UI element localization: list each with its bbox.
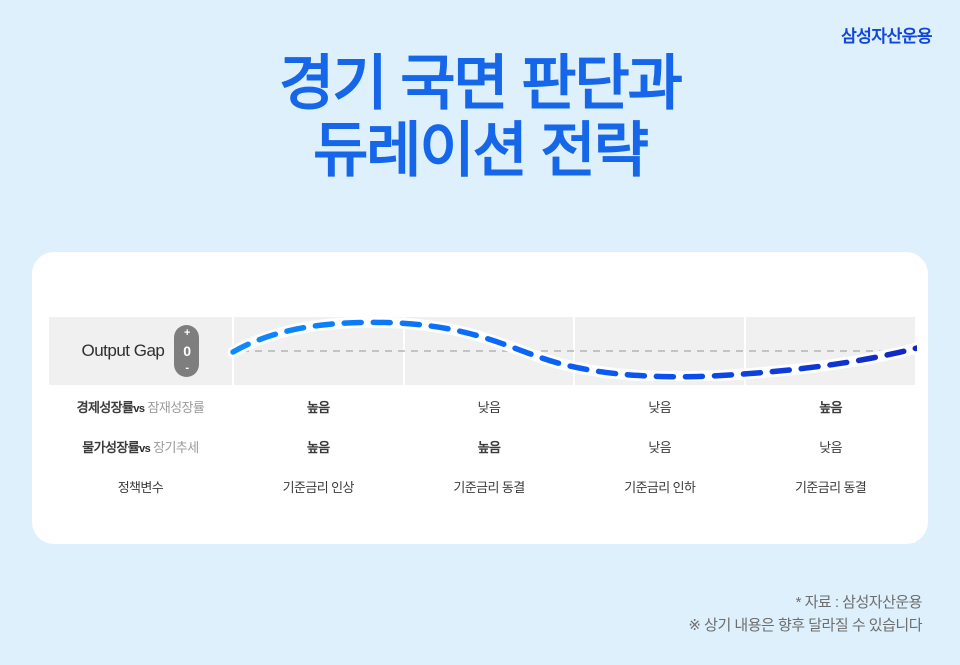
row-label-inflation: 물가성장률vs 장기추세 (49, 427, 232, 465)
row-label-vs: vs (133, 403, 144, 415)
footer-source: * 자료 : 삼성자산운용 (688, 591, 922, 614)
table-header-row: 경기 국면 확장 수축 침체 회복 (49, 279, 915, 315)
cell-inflation-expansion: 높음 (234, 427, 403, 465)
scale-minus: - (185, 363, 188, 374)
footer-disclaimer: ※ 상기 내용은 향후 달라질 수 있습니다 (688, 614, 922, 637)
page-title: 경기 국면 판단과 듀레이션 전략 (0, 50, 960, 184)
cell-growth-expansion: 높음 (234, 387, 403, 425)
cell-growth-contraction: 낮음 (405, 387, 574, 425)
business-cycle-matrix: 경기 국면 확장 수축 침체 회복 Output Gap + 0 - (47, 277, 917, 529)
row-label-sub: 장기추세 (153, 440, 198, 455)
header-cell-label: 경기 국면 (49, 279, 232, 315)
scale-plus: + (184, 328, 190, 339)
cell-policy-expansion: 기준금리 인상 (234, 467, 403, 505)
scale-zero: 0 (183, 344, 190, 358)
output-gap-cell-recession (575, 317, 744, 385)
strategy-cell-recession: 듀레이션 확대 (575, 507, 744, 543)
output-gap-row: Output Gap + 0 - (49, 317, 915, 385)
row-label-vs: vs (139, 443, 150, 455)
row-label-sub: 잠재성장률 (147, 400, 204, 415)
row-label-main: 물가성장률 (82, 440, 139, 455)
cell-inflation-contraction: 높음 (405, 427, 574, 465)
strategy-cell-expansion: 듀레이션 축소 (234, 507, 403, 543)
output-gap-label: Output Gap (81, 341, 164, 361)
company-logo: 삼성자산운용 (841, 22, 932, 47)
output-gap-cell-expansion (234, 317, 403, 385)
table-row: 경제성장률vs 잠재성장률 높음 낮음 낮음 높음 (49, 387, 915, 425)
cell-policy-contraction: 기준금리 동결 (405, 467, 574, 505)
strategy-row-label: 듀레이션 전략 (49, 507, 232, 543)
strategy-cell-recovery: 듀레이션 축소 (746, 507, 915, 543)
cell-inflation-recovery: 낮음 (746, 427, 915, 465)
output-gap-cell-contraction (405, 317, 574, 385)
output-gap-label-cell: Output Gap + 0 - (49, 317, 232, 385)
table-row: 정책변수 기준금리 인상 기준금리 동결 기준금리 인하 기준금리 동결 (49, 467, 915, 505)
cell-growth-recession: 낮음 (575, 387, 744, 425)
row-label-main: 경제성장률 (77, 400, 134, 415)
table-row: 물가성장률vs 장기추세 높음 높음 낮음 낮음 (49, 427, 915, 465)
output-gap-scale: + 0 - (174, 325, 199, 377)
cell-growth-recovery: 높음 (746, 387, 915, 425)
cell-policy-recession: 기준금리 인하 (575, 467, 744, 505)
strategy-cell-contraction: 듀레이션 확대 (405, 507, 574, 543)
header-cell-recovery: 회복 (746, 279, 915, 315)
row-label-growth: 경제성장률vs 잠재성장률 (49, 387, 232, 425)
row-label-policy: 정책변수 (49, 467, 232, 505)
strategy-row: 듀레이션 전략 듀레이션 축소 듀레이션 확대 듀레이션 확대 듀레이션 축소 (49, 507, 915, 543)
footer-notes: * 자료 : 삼성자산운용 ※ 상기 내용은 향후 달라질 수 있습니다 (688, 591, 922, 638)
header-cell-expansion: 확장 (234, 279, 403, 315)
output-gap-cell-recovery (746, 317, 915, 385)
cell-policy-recovery: 기준금리 동결 (746, 467, 915, 505)
header-cell-contraction: 수축 (405, 279, 574, 315)
title-line-1: 경기 국면 판단과 (0, 50, 960, 117)
cell-inflation-recession: 낮음 (575, 427, 744, 465)
header-cell-recession: 침체 (575, 279, 744, 315)
title-line-2: 듀레이션 전략 (0, 117, 960, 184)
